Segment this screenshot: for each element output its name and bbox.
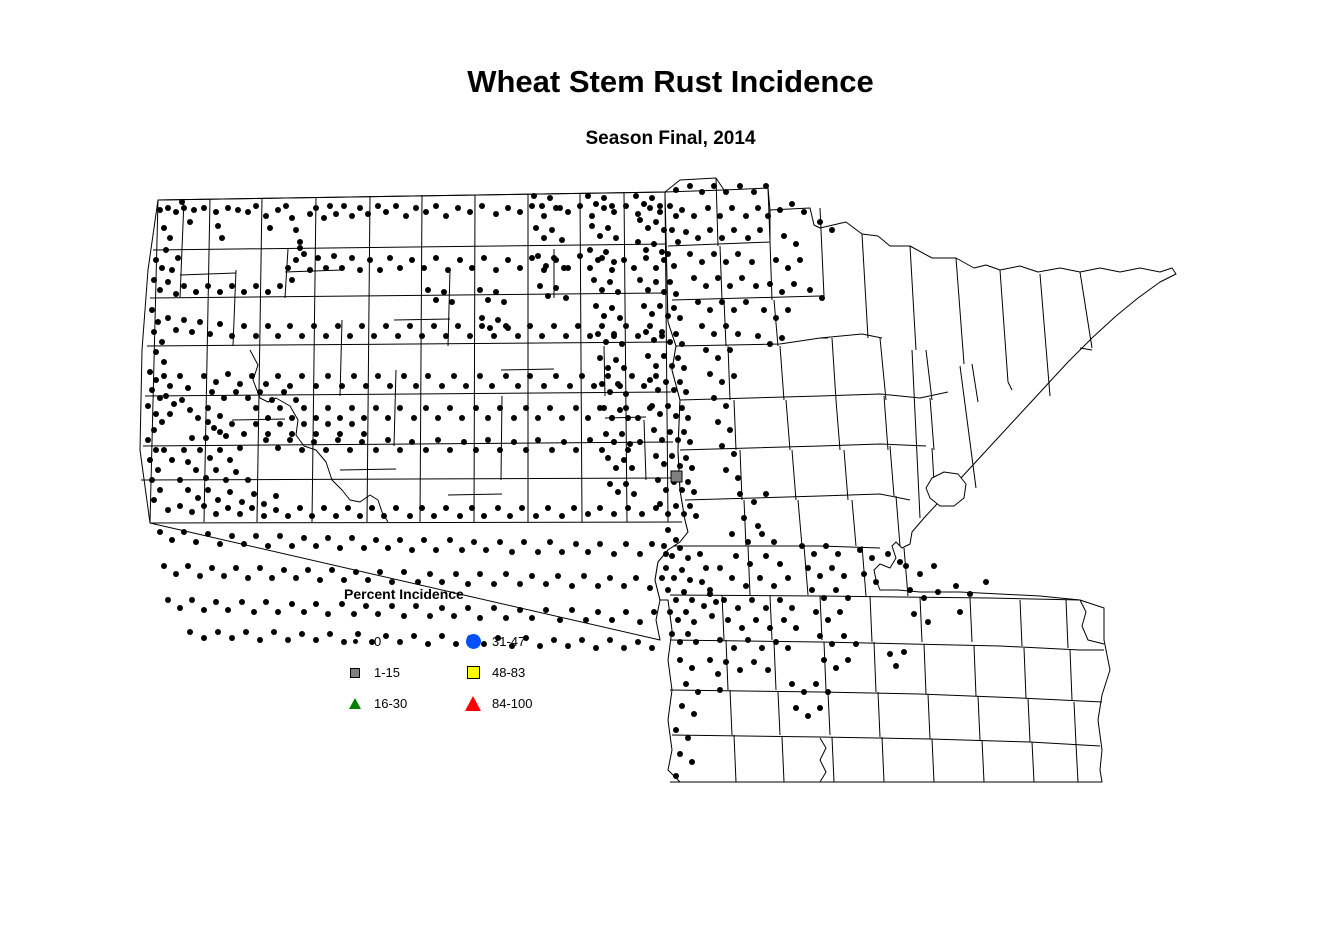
map-svg xyxy=(120,150,1200,800)
legend-column-left: 0 1-15 16-30 xyxy=(344,626,407,719)
page-subtitle: Season Final, 2014 xyxy=(0,128,1341,150)
map-canvas xyxy=(120,150,1200,800)
green-triangle-marker-icon xyxy=(344,693,366,715)
legend-item-label: 48-83 xyxy=(492,665,525,680)
legend-item-label: 1-15 xyxy=(374,665,400,680)
yellow-square-marker-icon xyxy=(462,662,484,684)
legend-item-1-15[interactable]: 1-15 xyxy=(344,657,407,688)
legend-item-31-47[interactable]: 31-47 xyxy=(462,626,532,657)
page-title: Wheat Stem Rust Incidence xyxy=(0,64,1341,100)
blue-circle-marker-icon xyxy=(462,631,484,653)
legend-item-84-100[interactable]: 84-100 xyxy=(462,688,532,719)
legend-item-label: 16-30 xyxy=(374,696,407,711)
data-markers-1-15 xyxy=(671,471,682,482)
dot-marker-icon xyxy=(344,631,366,653)
legend-title: Percent Incidence xyxy=(344,586,464,602)
map-figure: Wheat Stem Rust Incidence Season Final, … xyxy=(0,0,1341,926)
legend-column-right: 31-47 48-83 84-100 xyxy=(462,626,532,719)
legend-item-0[interactable]: 0 xyxy=(344,626,407,657)
red-triangle-marker-icon xyxy=(462,693,484,715)
gray-square-marker-icon xyxy=(344,662,366,684)
legend-item-label: 0 xyxy=(374,634,381,649)
map-legend: Percent Incidence 0 1-15 16-30 xyxy=(344,586,574,710)
legend-item-label: 31-47 xyxy=(492,634,525,649)
legend-item-label: 84-100 xyxy=(492,696,532,711)
legend-item-16-30[interactable]: 16-30 xyxy=(344,688,407,719)
legend-item-48-83[interactable]: 48-83 xyxy=(462,657,532,688)
